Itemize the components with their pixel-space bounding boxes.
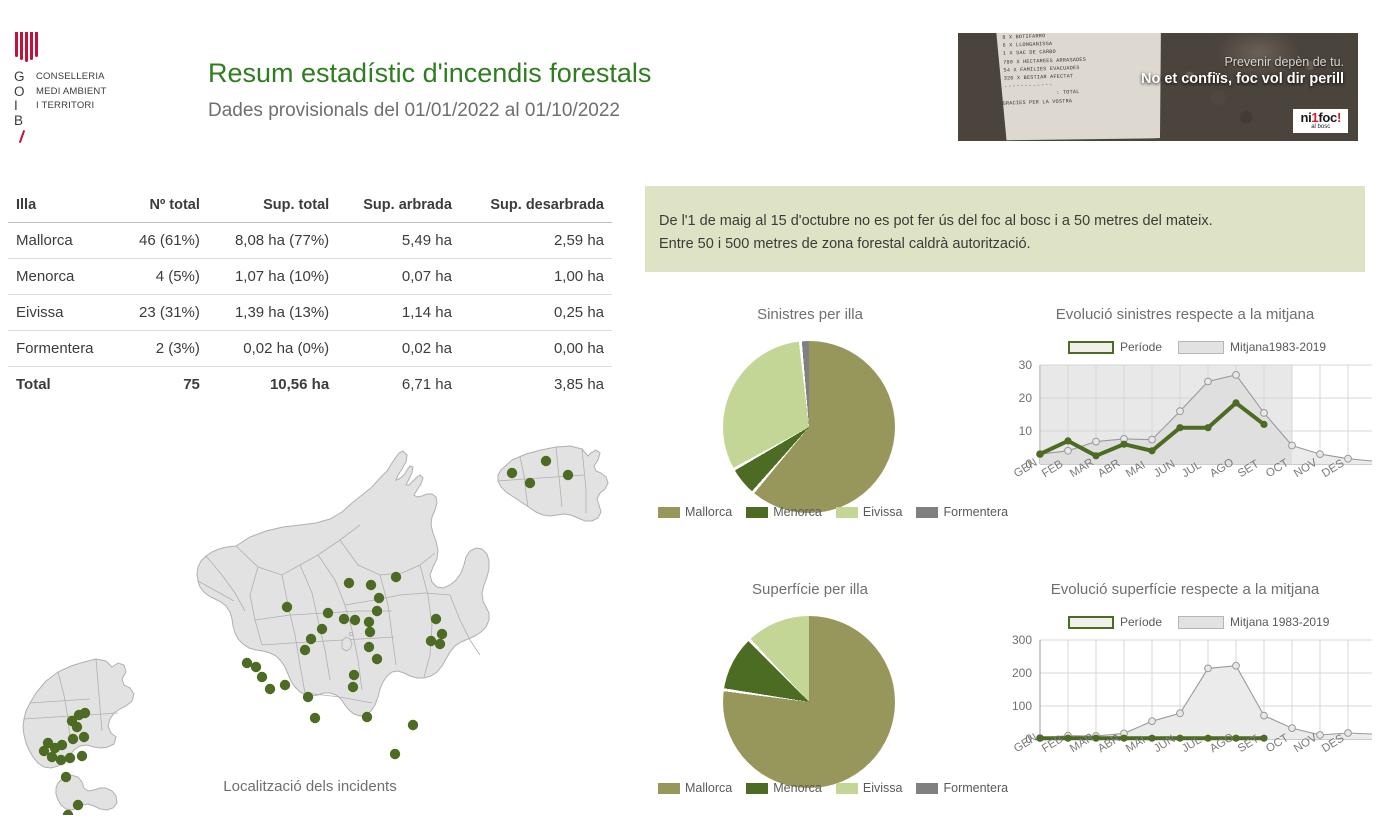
pie1-legend-formentera: Formentera (916, 505, 1008, 519)
table-row: Eivissa 23 (31%) 1,39 ha (13%) 1,14 ha 0… (8, 295, 612, 331)
ni1foc-post: foc (1318, 110, 1337, 125)
legend-mean-icon (1178, 341, 1224, 354)
chart1-legend-label-mitjana: Mitjana1983-2019 (1230, 340, 1326, 354)
pie1-label-mallorca: Mallorca (685, 505, 732, 519)
col-sup-desarbrada: Sup. desarbrada (460, 188, 612, 223)
ni1foc-excl: ! (1337, 110, 1341, 125)
pie2-legend-formentera: Formentera (916, 781, 1008, 795)
chart2-ytick-300: 300 (992, 633, 1032, 647)
goib-letters: G O I B (14, 70, 25, 128)
swatch-eivissa-icon (836, 783, 858, 794)
chart2-ytick-100: 100 (992, 699, 1032, 713)
pie2-title: Superfície per illa (645, 581, 975, 598)
table-row: Menorca 4 (5%) 1,07 ha (10%) 0,07 ha 1,0… (8, 259, 612, 295)
swatch-formentera-icon (916, 783, 938, 794)
map-svg (0, 415, 620, 815)
pie1-legend: Mallorca Menorca Eivissa Formentera (658, 505, 1008, 519)
cell-sup-arbrada: 0,07 ha (337, 259, 460, 295)
conselleria-line-1: CONSELLERIA (36, 70, 107, 85)
col-sup-arbrada: Sup. arbrada (337, 188, 460, 223)
chart1-title: Evolució sinistres respecte a la mitjana (1000, 306, 1370, 323)
cell-n-total: 23 (31%) (118, 295, 208, 331)
goib-letter-g: G (14, 70, 25, 85)
cell-illa: Menorca (8, 259, 118, 295)
chart2-mean-area (1040, 666, 1372, 739)
cell-sup-desarbrada: 0,25 ha (460, 295, 612, 331)
pie1-label-formentera: Formentera (943, 505, 1008, 519)
pie1-title: Sinistres per illa (645, 306, 975, 323)
cell-n-total: 4 (5%) (118, 259, 208, 295)
receipt-thanks: GRACIES PER LA VOSTRA (1003, 95, 1164, 107)
pie2-label-formentera: Formentera (943, 781, 1008, 795)
cell-illa: Total (8, 367, 118, 403)
col-illa: Illa (8, 188, 118, 223)
goib-crest-icon (14, 32, 40, 66)
conselleria-line-2: MEDI AMBIENT (36, 85, 107, 100)
banner-line-1: Prevenir depèn de tu. (1141, 55, 1344, 69)
pie2-label-eivissa: Eivissa (863, 781, 903, 795)
ni1foc-pre: ni (1300, 110, 1311, 125)
goib-letter-i: I (14, 99, 25, 114)
cell-sup-desarbrada: 2,59 ha (460, 223, 612, 259)
chart2-legend-label-periode: Període (1120, 615, 1162, 629)
chart2-title: Evolució superfície respecte a la mitjan… (1000, 581, 1370, 598)
legend-period-icon (1068, 341, 1114, 354)
pie2-legend: Mallorca Menorca Eivissa Formentera (658, 781, 1008, 795)
banner-text: Prevenir depèn de tu. No et confiïs, foc… (1141, 55, 1344, 87)
chart1-ytick-10: 10 (998, 424, 1032, 438)
cell-sup-total: 10,56 ha (208, 367, 337, 403)
cell-sup-arbrada: 6,71 ha (337, 367, 460, 403)
cell-sup-arbrada: 5,49 ha (337, 223, 460, 259)
pie-chart-sinistres (723, 341, 895, 513)
notice-line-2: Entre 50 i 500 metres de zona forestal c… (659, 233, 1365, 256)
ni1foc-wordmark: ni1foc! (1300, 112, 1341, 124)
col-n-total: Nº total (118, 188, 208, 223)
cell-n-total: 46 (61%) (118, 223, 208, 259)
legend-mean-icon (1178, 616, 1224, 629)
pie2-legend-menorca: Menorca (746, 781, 822, 795)
goib-logo: G O I B CONSELLERIA MEDI AMBIENT I TERRI… (8, 30, 138, 145)
ni1foc-sub: al bosc (1300, 124, 1341, 131)
banner-line-2: No et confiïs, foc vol dir perill (1141, 71, 1344, 87)
goib-slash-icon (17, 130, 28, 142)
chart1-legend: Període Mitjana1983-2019 (1068, 340, 1326, 354)
map-caption: Localització dels incidents (0, 778, 620, 795)
summary-table: Illa Nº total Sup. total Sup. arbrada Su… (8, 188, 612, 402)
pie2-label-menorca: Menorca (773, 781, 822, 795)
chart1-ytick-30: 30 (998, 358, 1032, 372)
conselleria-lines: CONSELLERIA MEDI AMBIENT I TERRITORI (36, 70, 107, 114)
cell-sup-desarbrada: 1,00 ha (460, 259, 612, 295)
swatch-menorca-icon (746, 507, 768, 518)
cell-n-total: 75 (118, 367, 208, 403)
chart2-legend-label-mitjana: Mitjana 1983-2019 (1230, 615, 1329, 629)
swatch-eivissa-icon (836, 507, 858, 518)
fire-regulation-notice: De l'1 de maig al 15 d'octubre no es pot… (645, 186, 1365, 272)
pie1-legend-eivissa: Eivissa (836, 505, 903, 519)
cell-sup-total: 1,39 ha (13%) (208, 295, 337, 331)
table-header-row: Illa Nº total Sup. total Sup. arbrada Su… (8, 188, 612, 223)
dashboard-page: G O I B CONSELLERIA MEDI AMBIENT I TERRI… (0, 0, 1381, 821)
swatch-formentera-icon (916, 507, 938, 518)
notice-line-1: De l'1 de maig al 15 d'octubre no es pot… (659, 210, 1365, 233)
pie1-graphic (723, 341, 895, 513)
cell-sup-arbrada: 0,02 ha (337, 331, 460, 367)
chart2-legend-periode: Període (1068, 615, 1162, 629)
cell-illa: Mallorca (8, 223, 118, 259)
pie-chart-superficie (723, 616, 895, 788)
goib-letter-o: O (14, 85, 25, 100)
map-mallorca (197, 451, 489, 716)
cell-sup-total: 0,02 ha (0%) (208, 331, 337, 367)
cell-sup-total: 8,08 ha (77%) (208, 223, 337, 259)
chart2-ytick-200: 200 (992, 666, 1032, 680)
cell-illa: Eivissa (8, 295, 118, 331)
goib-letter-b: B (14, 114, 25, 129)
page-title: Resum estadístic d'incendis forestals (208, 58, 651, 89)
chart1-legend-mitjana: Mitjana1983-2019 (1178, 340, 1326, 354)
pie1-legend-mallorca: Mallorca (658, 505, 732, 519)
pie2-graphic (723, 616, 895, 788)
table-row: Formentera 2 (3%) 0,02 ha (0%) 0,02 ha 0… (8, 331, 612, 367)
page-subtitle: Dades provisionals del 01/01/2022 al 01/… (208, 100, 620, 122)
chart2-legend-mitjana: Mitjana 1983-2019 (1178, 615, 1329, 629)
cell-n-total: 2 (3%) (118, 331, 208, 367)
ni1foc-logo: ni1foc! al bosc (1293, 109, 1348, 133)
chart2-legend: Període Mitjana 1983-2019 (1068, 615, 1329, 629)
chart1-legend-label-periode: Període (1120, 340, 1162, 354)
legend-period-icon (1068, 616, 1114, 629)
pie2-legend-eivissa: Eivissa (836, 781, 903, 795)
pie2-label-mallorca: Mallorca (685, 781, 732, 795)
table-row: Mallorca 46 (61%) 8,08 ha (77%) 5,49 ha … (8, 223, 612, 259)
swatch-menorca-icon (746, 783, 768, 794)
chart1-legend-periode: Període (1068, 340, 1162, 354)
swatch-mallorca-icon (658, 507, 680, 518)
chart1-ytick-20: 20 (998, 391, 1032, 405)
map-menorca (498, 446, 608, 521)
pie1-legend-menorca: Menorca (746, 505, 822, 519)
receipt-image: 8 X BOTIFARRO 6 X LLONGANISSA 1 X SAC DE… (996, 33, 1165, 141)
cell-sup-desarbrada: 3,85 ha (460, 367, 612, 403)
pie2-legend-mallorca: Mallorca (658, 781, 732, 795)
cell-sup-desarbrada: 0,00 ha (460, 331, 612, 367)
cell-illa: Formentera (8, 331, 118, 367)
incident-map (0, 415, 620, 815)
cell-sup-arbrada: 1,14 ha (337, 295, 460, 331)
campaign-banner: 8 X BOTIFARRO 6 X LLONGANISSA 1 X SAC DE… (958, 33, 1358, 141)
pie1-label-menorca: Menorca (773, 505, 822, 519)
table-total-row: Total 75 10,56 ha 6,71 ha 3,85 ha (8, 367, 612, 403)
cell-sup-total: 1,07 ha (10%) (208, 259, 337, 295)
conselleria-line-3: I TERRITORI (36, 99, 107, 114)
pie1-label-eivissa: Eivissa (863, 505, 903, 519)
swatch-mallorca-icon (658, 783, 680, 794)
col-sup-total: Sup. total (208, 188, 337, 223)
